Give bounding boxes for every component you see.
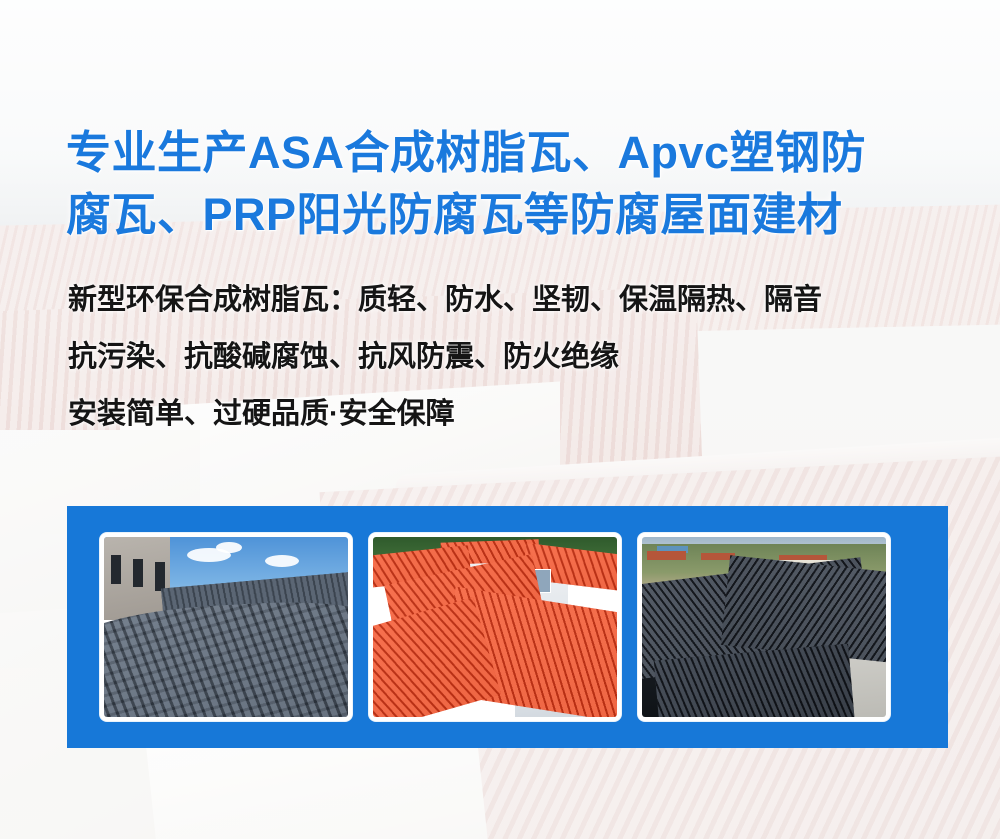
photo1-window (133, 559, 143, 588)
subtitle-line-3: 安装简单、过硬品质·安全保障 (68, 386, 958, 443)
headline-line-1: 专业生产ASA合成树脂瓦、Apvc塑钢防 (66, 127, 866, 178)
gallery-photo-red-roof[interactable] (369, 533, 621, 721)
photo-image-black-roof (642, 537, 886, 717)
photo3-distant-roof (647, 551, 686, 560)
photo1-window (111, 555, 121, 584)
photo-gallery-panel (67, 506, 948, 748)
photo1-main-tile-roof (104, 597, 348, 717)
subtitle-line-1: 新型环保合成树脂瓦：质轻、防水、坚韧、保温隔热、隔音 (68, 272, 958, 329)
photo1-cloud (265, 555, 299, 567)
banner-headline: 专业生产ASA合成树脂瓦、Apvc塑钢防 腐瓦、PRP阳光防腐瓦等防腐屋面建材 (66, 122, 946, 246)
subtitle-line-2: 抗污染、抗酸碱腐蚀、抗风防震、防火绝缘 (68, 329, 958, 386)
photo-image-grey-roof (104, 537, 348, 717)
headline-line-2: 腐瓦、PRP阳光防腐瓦等防腐屋面建材 (66, 184, 946, 246)
gallery-photo-grey-roof[interactable] (100, 533, 352, 721)
photo1-window (155, 562, 165, 591)
banner-subtitle: 新型环保合成树脂瓦：质轻、防水、坚韧、保温隔热、隔音 抗污染、抗酸碱腐蚀、抗风防… (68, 272, 958, 443)
photo-image-red-roof (373, 537, 617, 717)
product-banner: 专业生产ASA合成树脂瓦、Apvc塑钢防 腐瓦、PRP阳光防腐瓦等防腐屋面建材 … (0, 0, 1000, 839)
photo-gallery-row (100, 533, 890, 721)
gallery-photo-black-roof[interactable] (638, 533, 890, 721)
